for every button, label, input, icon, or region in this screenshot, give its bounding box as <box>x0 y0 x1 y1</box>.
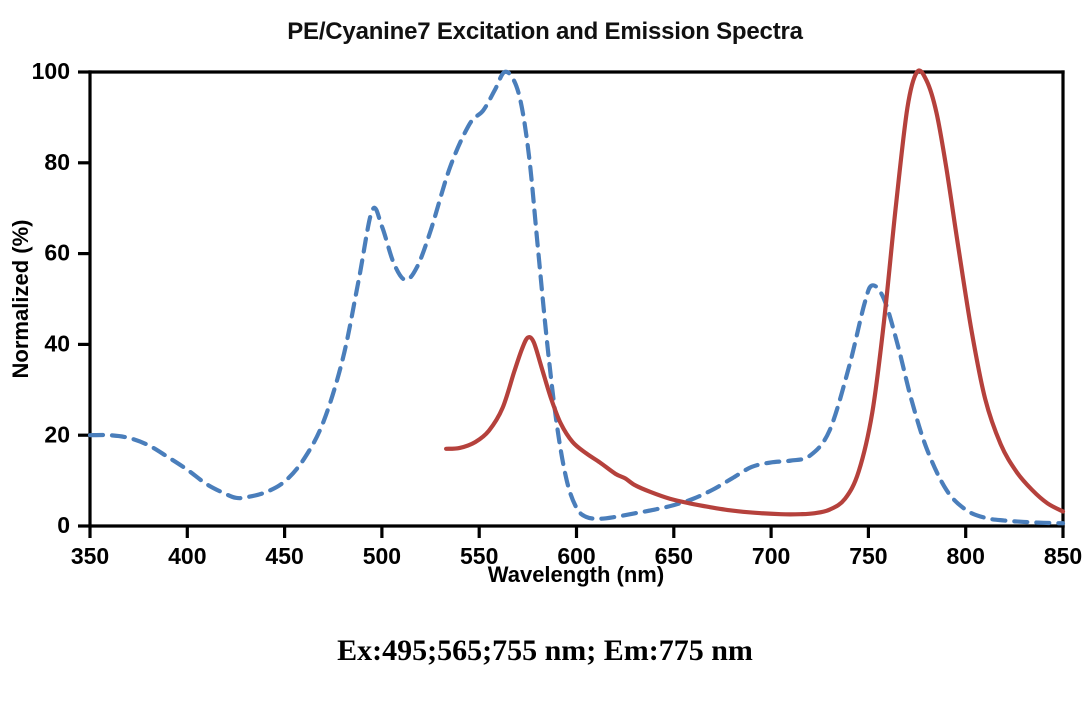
plot-area: 020406080100 350400450500550600650700750… <box>0 55 1090 605</box>
y-tick-label: 40 <box>44 330 70 356</box>
x-tick-label: 400 <box>168 543 206 569</box>
page-title: PE/Cyanine7 Excitation and Emission Spec… <box>0 18 1090 46</box>
axes-group <box>90 72 1063 526</box>
spectra-figure: PE/Cyanine7 Excitation and Emission Spec… <box>0 0 1090 703</box>
figure-caption: Ex:495;565;755 nm; Em:775 nm <box>0 634 1090 668</box>
y-tick-group: 020406080100 <box>32 58 90 538</box>
x-tick-label: 450 <box>265 543 303 569</box>
x-axis-title: Wavelength (nm) <box>488 562 664 587</box>
y-tick-label: 100 <box>32 58 70 84</box>
y-tick-label: 0 <box>57 512 70 538</box>
x-tick-label: 700 <box>752 543 790 569</box>
spectra-chart-svg: 020406080100 350400450500550600650700750… <box>0 55 1090 605</box>
y-tick-label: 20 <box>44 421 70 447</box>
series-group <box>90 71 1063 524</box>
y-tick-label: 80 <box>44 149 70 175</box>
series-line-excitation <box>90 72 1063 524</box>
y-axis-title: Normalized (%) <box>8 220 33 379</box>
x-tick-label: 750 <box>849 543 887 569</box>
x-tick-label: 500 <box>363 543 401 569</box>
y-tick-label: 60 <box>44 240 70 266</box>
x-tick-label: 800 <box>947 543 985 569</box>
x-tick-label: 350 <box>71 543 109 569</box>
series-line-emission <box>446 71 1063 515</box>
x-tick-label: 850 <box>1044 543 1082 569</box>
